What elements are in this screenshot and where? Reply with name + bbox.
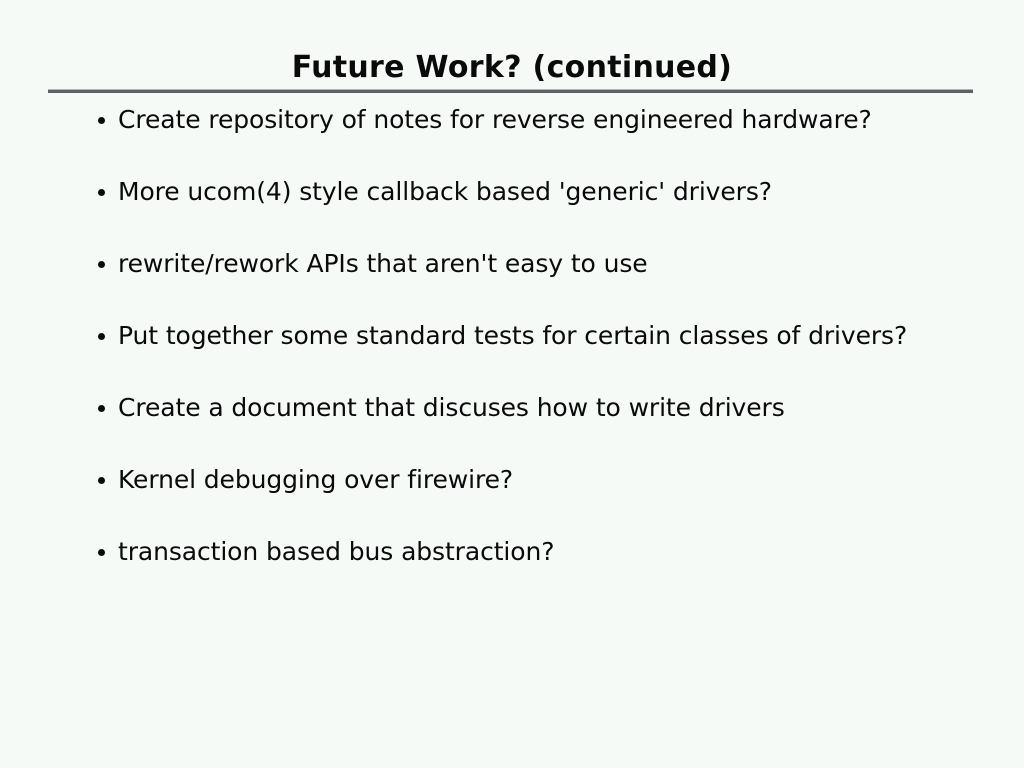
page-title: Future Work? (continued) [0, 50, 1024, 86]
list-item-label: More ucom(4) style callback based 'gener… [118, 176, 772, 208]
presentation-slide: Future Work? (continued) Create reposito… [0, 0, 1024, 768]
list-item: Put together some standard tests for cer… [96, 320, 996, 392]
list-item-label: Kernel debugging over firewire? [118, 464, 513, 496]
list-item-label: transaction based bus abstraction? [118, 536, 554, 568]
bullet-list: Create repository of notes for reverse e… [96, 104, 996, 608]
list-item: More ucom(4) style callback based 'gener… [96, 176, 996, 248]
list-item: Kernel debugging over firewire? [96, 464, 996, 536]
list-item: Create a document that discuses how to w… [96, 392, 996, 464]
list-item-label: Put together some standard tests for cer… [118, 320, 907, 352]
bullet-dot-icon [98, 261, 105, 268]
list-item: rewrite/rework APIs that aren't easy to … [96, 248, 996, 320]
list-item-label: Create repository of notes for reverse e… [118, 104, 872, 136]
list-item-label: Create a document that discuses how to w… [118, 392, 785, 424]
bullet-dot-icon [98, 549, 105, 556]
title-divider [48, 89, 973, 93]
bullet-dot-icon [98, 333, 105, 340]
bullet-dot-icon [98, 405, 105, 412]
list-item-label: rewrite/rework APIs that aren't easy to … [118, 248, 648, 280]
list-item: Create repository of notes for reverse e… [96, 104, 996, 176]
list-item: transaction based bus abstraction? [96, 536, 996, 608]
bullet-dot-icon [98, 117, 105, 124]
bullet-dot-icon [98, 189, 105, 196]
bullet-dot-icon [98, 477, 105, 484]
